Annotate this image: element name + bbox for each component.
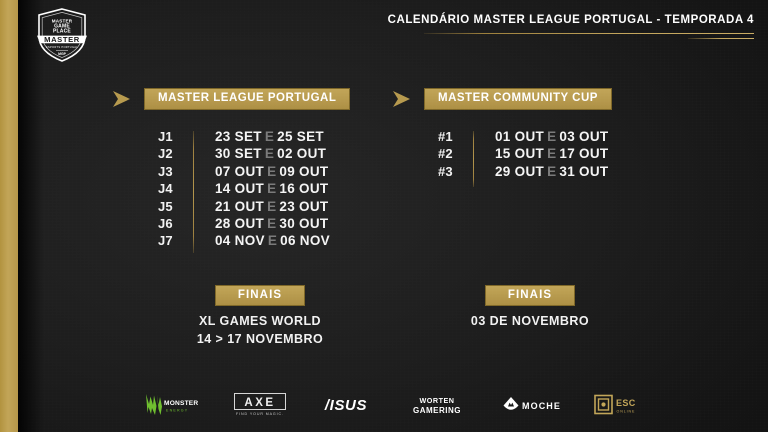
svg-text:ESPORTS PORTUGAL: ESPORTS PORTUGAL: [46, 45, 78, 49]
worten-gamering-logo: WORTEN GAMERING: [406, 393, 468, 417]
table-row: #2 15 OUTE17 OUT: [438, 146, 682, 163]
row-matchday-label: J4: [158, 181, 193, 196]
svg-text:PLACE: PLACE: [53, 28, 71, 34]
arrow-right-icon: [112, 90, 131, 108]
row-date-range: 28 OUTE30 OUT: [215, 216, 328, 231]
row-date-range: 07 OUTE09 OUT: [215, 164, 328, 179]
calendar-poster: MASTER GAME PLACE MASTER ESPORTS PORTUGA…: [0, 0, 768, 432]
table-row: #1 01 OUTE03 OUT: [438, 129, 682, 146]
row-date-range: 14 OUTE16 OUT: [215, 181, 328, 196]
section-banner-label: MASTER COMMUNITY CUP: [438, 93, 598, 105]
finals-banner-label: FINAIS: [238, 290, 282, 302]
row-matchday-label: J5: [158, 199, 193, 214]
svg-text:MASTER: MASTER: [44, 35, 80, 44]
sponsor-bar: MONSTER ENERGY AXE FIND YOUR MAGIC. /ISU…: [0, 386, 768, 424]
schedule-table-master-community-cup: #1 01 OUTE03 OUT #2 15 OUTE17 OUT #3 29 …: [392, 129, 682, 181]
esc-online-logo: ESC ONLINE: [594, 393, 644, 417]
monster-energy-logo: MONSTER ENERGY: [142, 392, 200, 418]
svg-text:MOCHE: MOCHE: [522, 401, 560, 411]
row-matchday-label: #3: [438, 164, 473, 179]
row-matchday-label: #1: [438, 129, 473, 144]
svg-text:/ISUS: /ISUS: [324, 397, 367, 414]
table-row: J1 23 SETE25 SET: [158, 129, 412, 146]
column-master-league-portugal: MASTER LEAGUE PORTUGAL J1 23 SETE25 SET …: [112, 86, 412, 251]
section-banner-master-league-portugal: MASTER LEAGUE PORTUGAL: [144, 88, 350, 110]
svg-text:FIND YOUR MAGIC.: FIND YOUR MAGIC.: [236, 412, 284, 416]
finals-master-league-portugal: FINAIS XL GAMES WORLD 14 > 17 NOVEMBRO: [160, 285, 360, 346]
section-header-master-league-portugal: MASTER LEAGUE PORTUGAL: [112, 86, 412, 112]
svg-text:ONLINE: ONLINE: [617, 410, 636, 414]
table-row: #3 29 OUTE31 OUT: [438, 164, 682, 181]
column-master-community-cup: MASTER COMMUNITY CUP #1 01 OUTE03 OUT #2…: [392, 86, 682, 181]
row-matchday-label: J6: [158, 216, 193, 231]
svg-text:AXE: AXE: [244, 397, 275, 409]
left-gold-stripe: [0, 0, 18, 432]
table-row: J4 14 OUTE16 OUT: [158, 181, 412, 198]
left-stripe-shadow: [18, 0, 44, 432]
page-title: CALENDÁRIO MASTER LEAGUE PORTUGAL - TEMP…: [388, 14, 754, 26]
finals-master-community-cup: FINAIS 03 DE NOVEMBRO: [430, 285, 630, 328]
svg-text:WORTEN: WORTEN: [420, 396, 455, 405]
schedule-divider: [473, 131, 474, 187]
row-date-range: 15 OUTE17 OUT: [495, 146, 608, 161]
schedule-table-master-league-portugal: J1 23 SETE25 SET J2 30 SETE02 OUT J3 07 …: [112, 129, 412, 251]
row-date-range: 30 SETE02 OUT: [215, 146, 326, 161]
schedule-divider: [193, 131, 194, 253]
row-date-range: 01 OUTE03 OUT: [495, 129, 608, 144]
asus-logo: /ISUS: [320, 395, 372, 415]
row-matchday-label: J3: [158, 164, 193, 179]
section-banner-label: MASTER LEAGUE PORTUGAL: [158, 93, 336, 105]
finals-venue: XL GAMES WORLD: [160, 314, 360, 328]
table-row: J2 30 SETE02 OUT: [158, 146, 412, 163]
table-row: J6 28 OUTE30 OUT: [158, 216, 412, 233]
table-row: J3 07 OUTE09 OUT: [158, 164, 412, 181]
row-date-range: 23 SETE25 SET: [215, 129, 324, 144]
axe-logo: AXE FIND YOUR MAGIC.: [234, 393, 286, 417]
table-row: J7 04 NOVE06 NOV: [158, 233, 412, 250]
header-rule-primary: [424, 33, 754, 34]
moche-logo: MOCHE: [502, 395, 560, 415]
row-date-range: 29 OUTE31 OUT: [495, 164, 608, 179]
row-date-range: 21 OUTE23 OUT: [215, 199, 328, 214]
finals-dates: 03 DE NOVEMBRO: [430, 314, 630, 328]
header-rule-secondary: [688, 38, 754, 39]
table-row: J5 21 OUTE23 OUT: [158, 199, 412, 216]
row-matchday-label: #2: [438, 146, 473, 161]
row-date-range: 04 NOVE06 NOV: [215, 233, 330, 248]
arrow-right-icon: [392, 90, 411, 108]
row-matchday-label: J2: [158, 146, 193, 161]
svg-text:ESC: ESC: [616, 398, 636, 408]
finals-dates: 14 > 17 NOVEMBRO: [160, 332, 360, 346]
finals-banner: FINAIS: [215, 285, 305, 306]
finals-banner: FINAIS: [485, 285, 575, 306]
row-matchday-label: J7: [158, 233, 193, 248]
finals-banner-label: FINAIS: [508, 290, 552, 302]
svg-text:MONSTER: MONSTER: [164, 400, 198, 407]
section-banner-master-community-cup: MASTER COMMUNITY CUP: [424, 88, 612, 110]
section-header-master-community-cup: MASTER COMMUNITY CUP: [392, 86, 682, 112]
svg-text:ENERGY: ENERGY: [166, 409, 188, 413]
svg-text:MGP: MGP: [58, 52, 66, 56]
master-league-shield-logo: MASTER GAME PLACE MASTER ESPORTS PORTUGA…: [33, 6, 91, 64]
svg-text:GAMERING: GAMERING: [413, 406, 461, 415]
row-matchday-label: J1: [158, 129, 193, 144]
